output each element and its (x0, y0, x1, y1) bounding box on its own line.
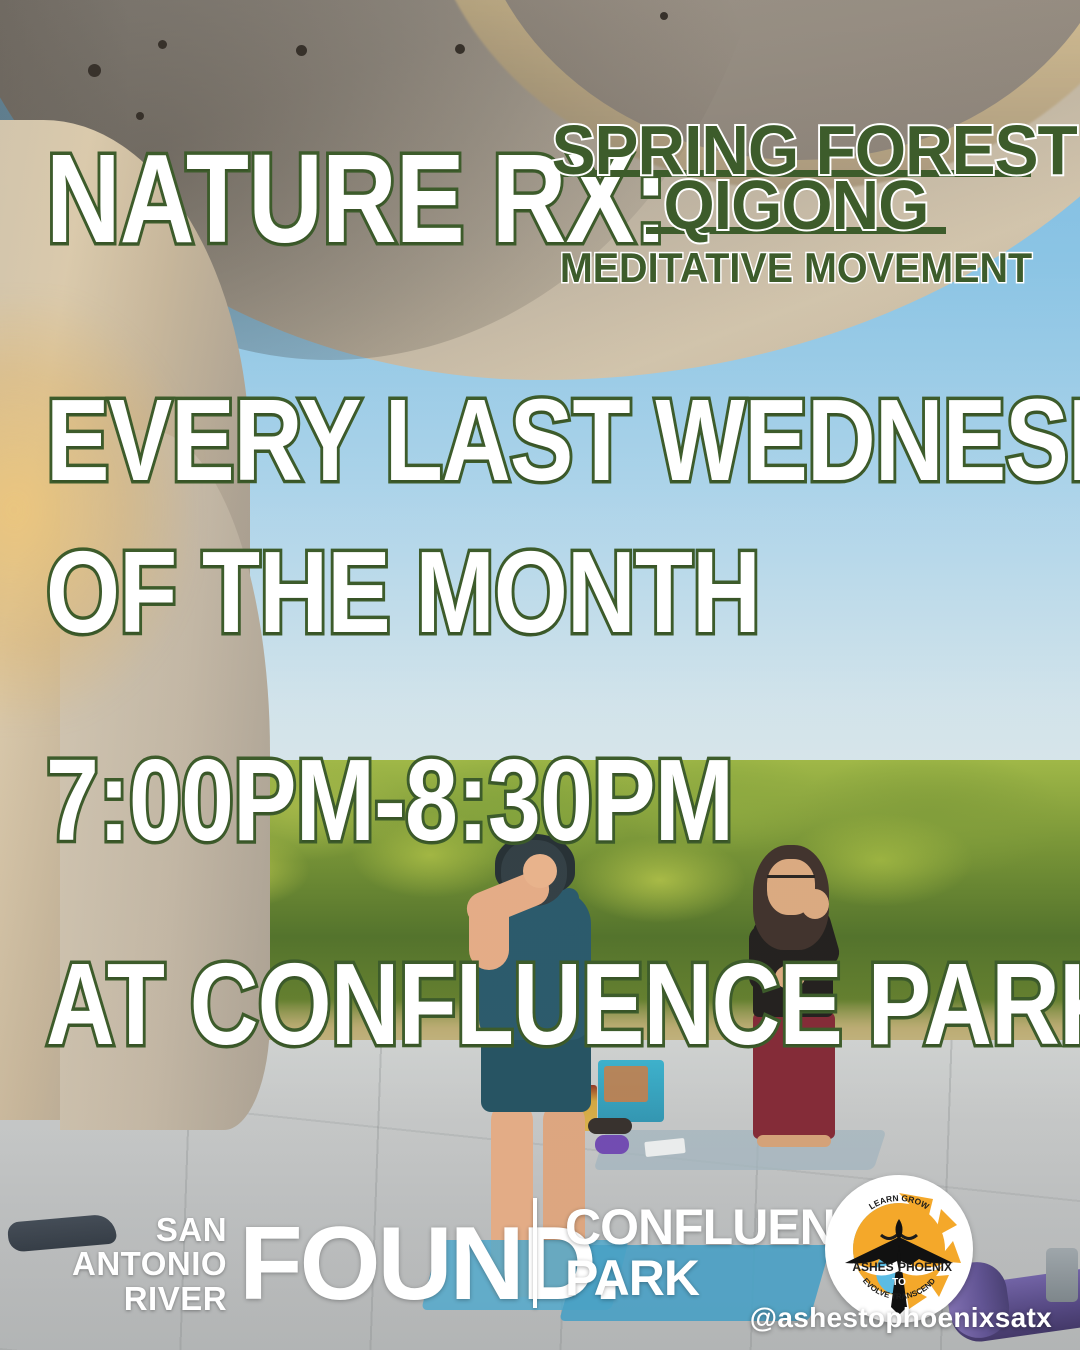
brand-tagline: MEDITATIVE MOVEMENT (552, 248, 1041, 287)
sara-line-2: ANTONIO (72, 1247, 227, 1281)
event-flyer: NATURE RX: SPRING FOREST QIGONG MEDITATI… (0, 0, 1080, 1350)
phoenix-sun-moon-icon: ASHES PHOENIX TO LEARN GROW EVOLVE TRANS… (829, 1179, 969, 1319)
sara-found-logo: SAN ANTONIO RIVER FOUND. (72, 1213, 620, 1316)
logo-divider (533, 1198, 537, 1308)
logo-text-to: TO (892, 1277, 906, 1288)
sara-wordmark: SAN ANTONIO RIVER (72, 1213, 239, 1316)
detail-line-time: 7:00PM-8:30PM (46, 742, 733, 858)
detail-line-frequency-cont: OF THE MONTH (46, 534, 760, 650)
sara-line-1: SAN (72, 1213, 227, 1247)
logo-text-ashes: ASHES (852, 1260, 893, 1274)
brand-line-2: QIGONG (552, 173, 1041, 239)
detail-line-location: AT CONFLUENCE PARK (46, 946, 1080, 1062)
instagram-handle: @ashestophoenixsatx (750, 1302, 1052, 1334)
found-wordmark: FOUND. (239, 1222, 620, 1307)
text-overlay: NATURE RX: SPRING FOREST QIGONG MEDITATI… (0, 0, 1080, 1350)
program-brand: SPRING FOREST QIGONG MEDITATIVE MOVEMENT (536, 118, 1056, 287)
logo-text-phoenix: PHOENIX (898, 1260, 952, 1274)
sara-line-3: RIVER (72, 1282, 227, 1316)
ashes-to-phoenix-logo: ASHES PHOENIX TO LEARN GROW EVOLVE TRANS… (825, 1175, 973, 1323)
detail-line-frequency: EVERY LAST WEDNESDAY (46, 382, 1080, 498)
